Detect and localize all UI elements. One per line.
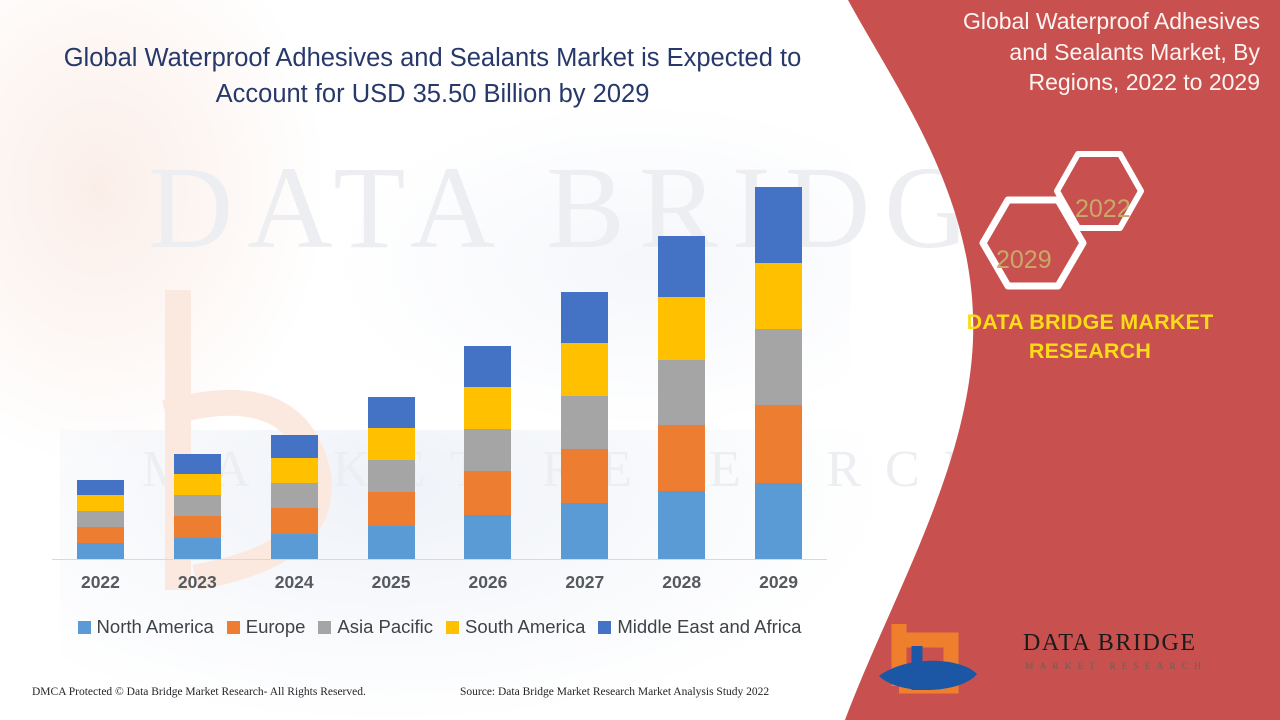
legend-item-middle-east-and-africa[interactable]: Middle East and Africa [598, 616, 801, 638]
bar-slot [536, 159, 633, 559]
bar-slot [633, 159, 730, 559]
bar-segment[interactable] [464, 346, 511, 387]
bar-segment[interactable] [464, 429, 511, 471]
bar-2025[interactable] [368, 397, 415, 559]
bar-segment[interactable] [174, 454, 221, 474]
bar-slot [246, 159, 343, 559]
bar-segment[interactable] [77, 480, 124, 495]
bar-slot [440, 159, 537, 559]
bar-segment[interactable] [561, 503, 608, 559]
legend-label: North America [97, 616, 214, 638]
legend-item-asia-pacific[interactable]: Asia Pacific [318, 616, 433, 638]
company-logo: DATA BRIDGE MARKET RESEARCH [873, 620, 1203, 700]
bar-segment[interactable] [77, 511, 124, 526]
bar-segment[interactable] [658, 297, 705, 360]
chart-legend: North AmericaEuropeAsia PacificSouth Ame… [52, 616, 827, 638]
legend-swatch-icon [446, 621, 459, 634]
bar-segment[interactable] [77, 527, 124, 544]
bar-segment[interactable] [368, 526, 415, 559]
bar-segment[interactable] [658, 425, 705, 491]
bar-segment[interactable] [561, 292, 608, 343]
x-axis-tick-2025: 2025 [343, 572, 440, 593]
bar-slot [343, 159, 440, 559]
legend-label: Europe [246, 616, 306, 638]
bar-segment[interactable] [658, 360, 705, 425]
bar-segment[interactable] [464, 471, 511, 515]
panel-title: Global Waterproof Adhesives and Sealants… [920, 6, 1260, 98]
infographic-canvas: DATA BRIDGE MARKET RESEARCH Global Water… [0, 0, 1280, 720]
brand-panel: Global Waterproof Adhesives and Sealants… [780, 0, 1280, 720]
bar-segment[interactable] [271, 483, 318, 508]
bar-2026[interactable] [464, 346, 511, 559]
bar-segment[interactable] [561, 396, 608, 449]
stacked-bar-chart [52, 150, 827, 560]
bar-segment[interactable] [271, 534, 318, 559]
bar-segment[interactable] [658, 236, 705, 297]
x-axis-tick-2023: 2023 [149, 572, 246, 593]
bar-segment[interactable] [174, 495, 221, 516]
bar-segment[interactable] [561, 449, 608, 503]
x-axis-tick-2024: 2024 [246, 572, 343, 593]
legend-item-europe[interactable]: Europe [227, 616, 306, 638]
chart-bars [52, 159, 827, 559]
hexagon-label-start-year: 2022 [1075, 195, 1131, 224]
bar-segment[interactable] [368, 492, 415, 526]
bar-2022[interactable] [77, 480, 124, 559]
bar-segment[interactable] [174, 538, 221, 559]
legend-item-south-america[interactable]: South America [446, 616, 585, 638]
x-axis-tick-2022: 2022 [52, 572, 149, 593]
bar-segment[interactable] [271, 435, 318, 459]
footer-copyright: DMCA Protected © Data Bridge Market Rese… [32, 686, 366, 698]
hexagon-label-end-year: 2029 [996, 246, 1052, 275]
chart-baseline-axis [52, 559, 827, 560]
legend-swatch-icon [78, 621, 91, 634]
bar-slot [52, 159, 149, 559]
legend-swatch-icon [318, 621, 331, 634]
legend-swatch-icon [598, 621, 611, 634]
logo-mark-icon [873, 620, 1003, 700]
footer-source: Source: Data Bridge Market Research Mark… [460, 686, 769, 698]
bar-segment[interactable] [464, 387, 511, 429]
legend-label: South America [465, 616, 585, 638]
x-axis-tick-2027: 2027 [536, 572, 633, 593]
hexagon-group: 2029 2022 [970, 140, 1200, 300]
x-axis-tick-2028: 2028 [633, 572, 730, 593]
x-axis-tick-2026: 2026 [440, 572, 537, 593]
bar-segment[interactable] [368, 397, 415, 428]
bar-segment[interactable] [271, 508, 318, 534]
bar-segment[interactable] [77, 543, 124, 559]
bar-segment[interactable] [174, 474, 221, 495]
bar-2028[interactable] [658, 236, 705, 559]
logo-tagline: MARKET RESEARCH [1025, 662, 1207, 672]
brand-name: DATA BRIDGE MARKET RESEARCH [930, 308, 1250, 366]
bar-segment[interactable] [271, 458, 318, 483]
chart-x-axis-labels: 20222023202420252026202720282029 [52, 572, 827, 593]
legend-label: Middle East and Africa [617, 616, 801, 638]
bar-segment[interactable] [368, 428, 415, 460]
bar-segment[interactable] [658, 491, 705, 559]
legend-swatch-icon [227, 621, 240, 634]
bar-segment[interactable] [77, 495, 124, 511]
logo-wordmark: DATA BRIDGE [1023, 630, 1197, 657]
bar-segment[interactable] [174, 516, 221, 538]
bar-slot [149, 159, 246, 559]
legend-label: Asia Pacific [337, 616, 433, 638]
bar-segment[interactable] [464, 515, 511, 559]
bar-2024[interactable] [271, 435, 318, 559]
bar-segment[interactable] [368, 460, 415, 492]
page-title: Global Waterproof Adhesives and Sealants… [60, 40, 805, 112]
bar-segment[interactable] [561, 343, 608, 395]
bar-2027[interactable] [561, 292, 608, 559]
bar-2023[interactable] [174, 454, 221, 559]
legend-item-north-america[interactable]: North America [78, 616, 214, 638]
